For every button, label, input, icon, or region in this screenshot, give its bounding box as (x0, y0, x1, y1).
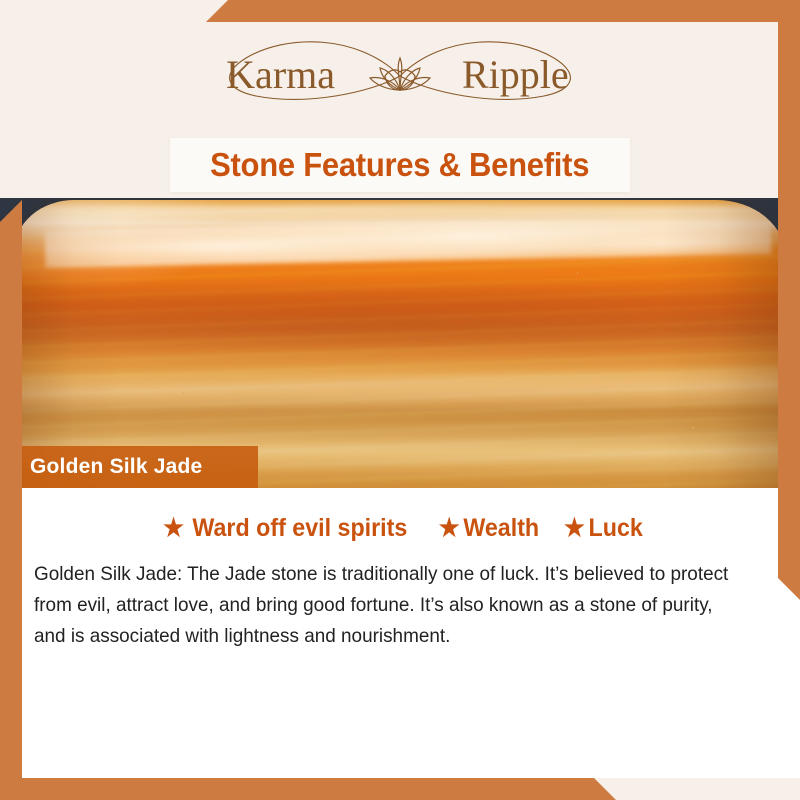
stone-description: Golden Silk Jade: The Jade stone is trad… (34, 559, 742, 652)
page-title: Stone Features & Benefits (210, 146, 589, 184)
stone-right-shadow (662, 200, 786, 488)
stone-name-badge: Golden Silk Jade (0, 446, 258, 488)
stone-gloss-highlight (14, 200, 323, 317)
frame-top-bar (0, 0, 800, 22)
benefit-item-2: ★ Wealth (439, 514, 539, 543)
benefit-item-1: ★ Ward off evil spirits (164, 514, 408, 543)
star-icon: ★ (564, 516, 585, 541)
brand-logo-svg: Karma Ripple (190, 28, 610, 124)
benefit-label: Ward off evil spirits (193, 514, 408, 543)
brand-logo: Karma Ripple (0, 24, 800, 128)
benefit-label: Wealth (463, 514, 539, 543)
content-panel: ★ Ward off evil spirits ★ Wealth ★ Luck … (0, 488, 800, 778)
benefit-item-3: ★ Luck (564, 514, 643, 543)
stone-name-label: Golden Silk Jade (0, 455, 202, 479)
frame-left-bar (0, 200, 22, 800)
brand-word-right: Ripple (462, 52, 569, 97)
section-title-card: Stone Features & Benefits (170, 138, 630, 192)
infographic-page: Karma Ripple Stone Features & Benefits G… (0, 0, 800, 800)
frame-right-bar (778, 0, 800, 600)
stone-photo: Golden Silk Jade (0, 198, 800, 488)
frame-bottom-bar (0, 778, 800, 800)
lotus-icon (370, 58, 430, 90)
benefit-label: Luck (588, 514, 642, 543)
benefits-list: ★ Ward off evil spirits ★ Wealth ★ Luck (0, 514, 800, 543)
star-icon: ★ (439, 516, 460, 541)
star-icon: ★ (164, 516, 185, 541)
jade-stone-image (14, 200, 786, 488)
brand-word-left: Karma (226, 52, 335, 97)
